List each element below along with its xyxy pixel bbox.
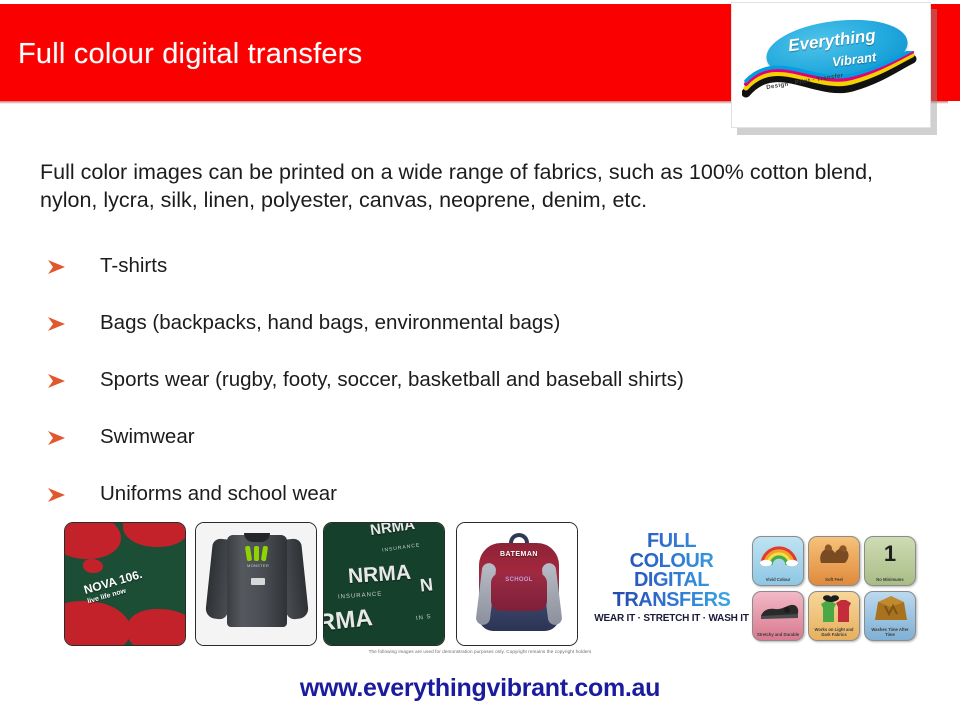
feature-tile-label: Washes Time After Time bbox=[865, 628, 915, 638]
backpack-label: BATEMAN bbox=[491, 551, 547, 558]
shirt-chest-badge bbox=[251, 578, 265, 585]
list-item: T-shirts bbox=[44, 238, 904, 295]
nrma-word-4: N bbox=[419, 574, 434, 596]
rainbow-icon bbox=[759, 541, 799, 567]
nova-print-artwork: NOVA 106. live life now bbox=[65, 523, 185, 645]
stretch-shoe-icon bbox=[753, 592, 804, 626]
backpack-artwork: BATEMAN SCHOOL bbox=[457, 523, 577, 645]
brand-logo-card[interactable]: Everything Vibrant Design · Print · Tran… bbox=[731, 2, 931, 128]
list-item-label: Swimwear bbox=[100, 425, 195, 450]
feature-tile-label: Soft Feel bbox=[809, 578, 859, 583]
nrma-word-2: NRMA bbox=[347, 561, 412, 589]
product-photo-nova-print[interactable]: NOVA 106. live life now bbox=[64, 522, 186, 646]
hand-feel-icon bbox=[809, 537, 860, 571]
feature-tile-no-minimums[interactable]: 1 No Minimums bbox=[864, 536, 916, 586]
feature-tile-wash-durability[interactable]: Washes Time After Time bbox=[864, 591, 916, 641]
slide-canvas: Full colour digital transfers Everything… bbox=[0, 0, 960, 720]
list-item-label: Uniforms and school wear bbox=[100, 482, 337, 507]
feature-tile-label: No Minimums bbox=[865, 578, 915, 583]
feature-icon-grid: Vivid Colour Soft Feel 1 No Minimums Str… bbox=[752, 536, 918, 641]
feature-tile-number: 1 bbox=[865, 539, 915, 569]
shirt-chest-text: MONSTER bbox=[242, 563, 274, 568]
product-photo-nrma-print[interactable]: NRMA INSURANCE NRMA INSURANCE RMA N IN S bbox=[323, 522, 445, 646]
nrma-word-3: RMA bbox=[323, 604, 374, 638]
wash-bag-icon bbox=[865, 592, 916, 626]
page-title: Full colour digital transfers bbox=[18, 38, 362, 71]
feature-tile-vivid-colour[interactable]: Vivid Colour bbox=[752, 536, 804, 586]
nrma-print-artwork: NRMA INSURANCE NRMA INSURANCE RMA N IN S bbox=[324, 523, 444, 645]
list-item: Sports wear (rugby, footy, soccer, baske… bbox=[44, 352, 904, 409]
feature-tile-label: Vivid Colour bbox=[753, 578, 803, 583]
list-item-label: Sports wear (rugby, footy, soccer, baske… bbox=[100, 368, 684, 393]
wordmark-line-4: TRANSFERS bbox=[594, 591, 749, 611]
nrma-sub-2: INSURANCE bbox=[338, 591, 383, 600]
nrma-word-1: NRMA bbox=[369, 522, 416, 539]
feature-tile-label: Works on Light and Dark Fabrics bbox=[809, 628, 859, 638]
shirt-artwork: MONSTER bbox=[196, 523, 316, 645]
feature-tile-soft-feel[interactable]: Soft Feel bbox=[808, 536, 860, 586]
arrow-bullet-icon bbox=[46, 258, 68, 276]
wordmark-subline: WEAR IT · STRETCH IT · WASH IT bbox=[594, 613, 749, 624]
nrma-sub-1: INSURANCE bbox=[382, 542, 421, 553]
nrma-sub-3: IN S bbox=[416, 614, 432, 622]
list-item: Swimwear bbox=[44, 409, 904, 466]
feature-tile-light-dark-fabrics[interactable]: Works on Light and Dark Fabrics bbox=[808, 591, 860, 641]
list-item: Uniforms and school wear bbox=[44, 466, 904, 523]
product-photo-monster-shirt[interactable]: MONSTER bbox=[195, 522, 317, 646]
backpack-sublabel: SCHOOL bbox=[493, 577, 545, 583]
arrow-bullet-icon bbox=[46, 315, 68, 333]
wordmark-line-3: DIGITAL bbox=[594, 571, 749, 591]
wordmark-line-1: FULL bbox=[594, 532, 749, 552]
arrow-bullet-icon bbox=[46, 429, 68, 447]
logo-artwork: Everything Vibrant Design · Print · Tran… bbox=[742, 21, 924, 113]
monster-claw-icon bbox=[246, 546, 268, 561]
feature-tile-label: Stretchy and Durable bbox=[753, 633, 803, 638]
tshirts-colour-icon bbox=[809, 592, 860, 626]
arrow-bullet-icon bbox=[46, 486, 68, 504]
feature-bullet-list: T-shirts Bags (backpacks, hand bags, env… bbox=[44, 238, 904, 523]
copyright-disclaimer: The following images are used for demons… bbox=[0, 649, 960, 654]
website-url[interactable]: www.everythingvibrant.com.au bbox=[0, 674, 960, 703]
list-item-label: Bags (backpacks, hand bags, environmenta… bbox=[100, 311, 560, 336]
intro-paragraph: Full color images can be printed on a wi… bbox=[40, 158, 915, 215]
list-item-label: T-shirts bbox=[100, 254, 167, 279]
full-colour-digital-transfers-wordmark: FULL COLOUR DIGITAL TRANSFERS WEAR IT · … bbox=[594, 532, 749, 624]
arrow-bullet-icon bbox=[46, 372, 68, 390]
list-item: Bags (backpacks, hand bags, environmenta… bbox=[44, 295, 904, 352]
feature-tile-stretchy-durable[interactable]: Stretchy and Durable bbox=[752, 591, 804, 641]
product-photo-backpack[interactable]: BATEMAN SCHOOL bbox=[456, 522, 578, 646]
